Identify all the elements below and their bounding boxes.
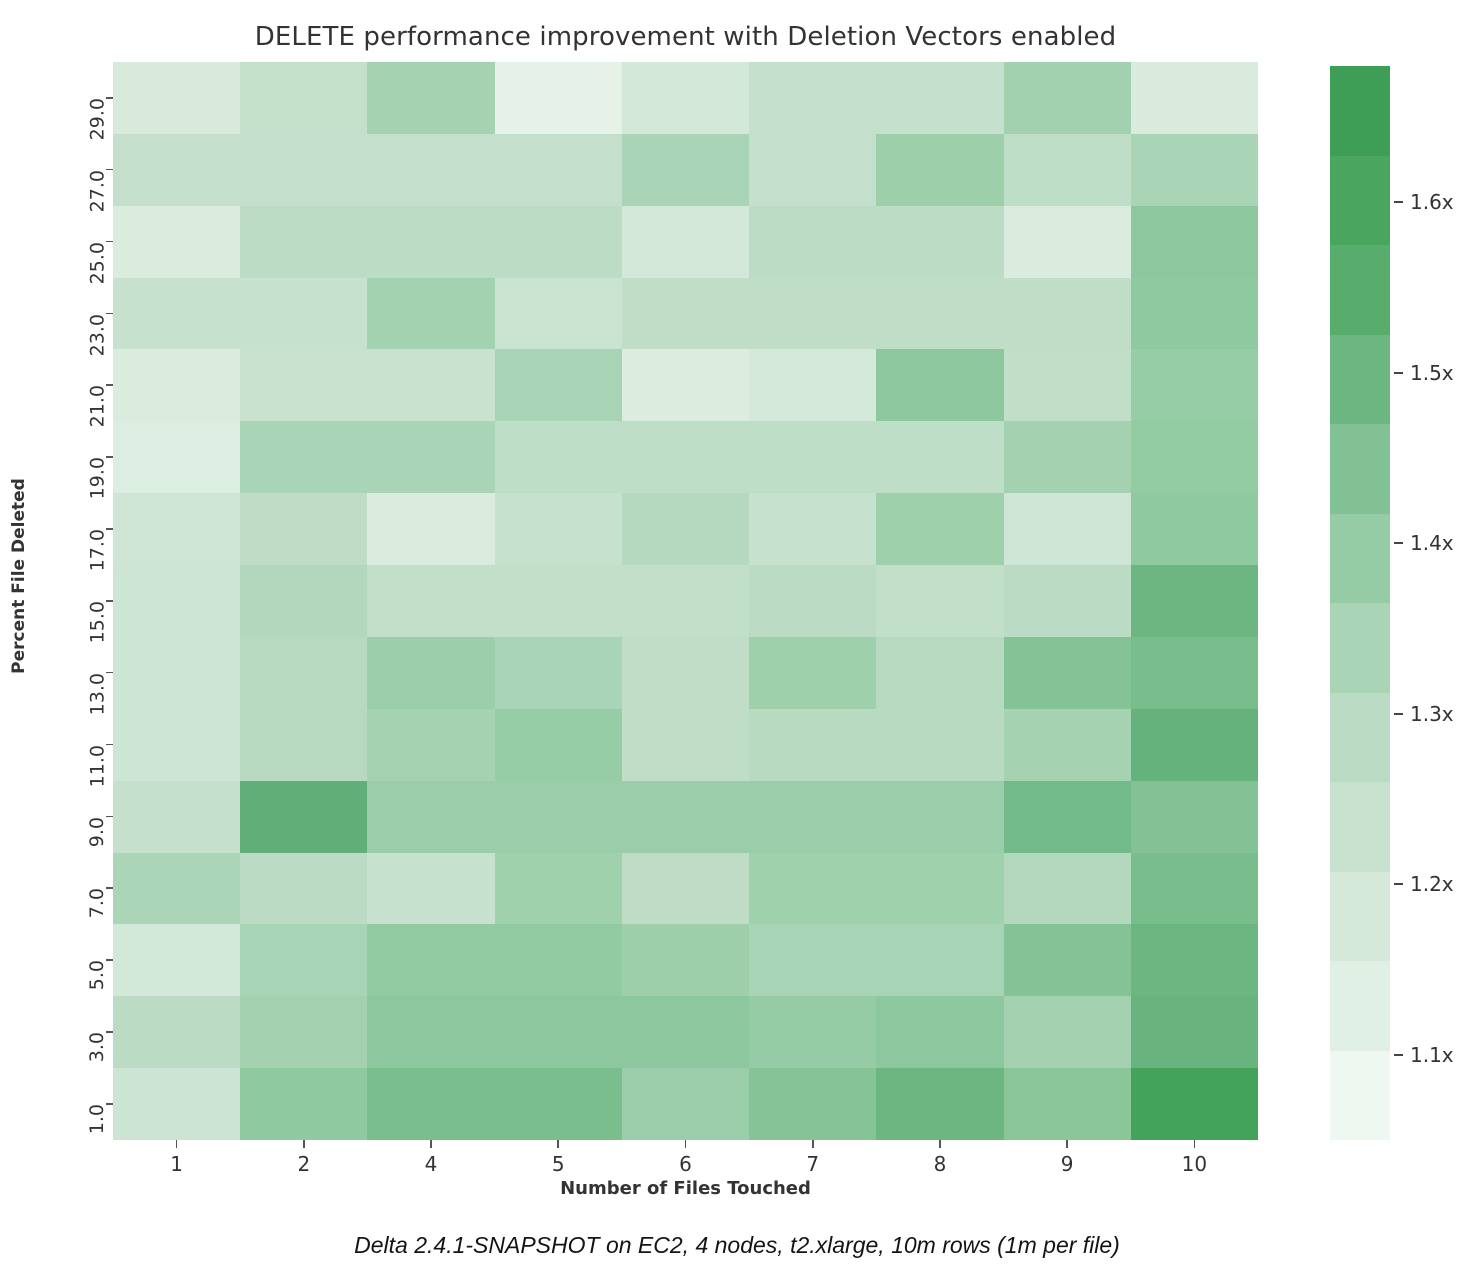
- heatmap-cell: [240, 996, 367, 1068]
- x-tick-mark: [1066, 1140, 1068, 1148]
- colorbar-band: [1330, 872, 1390, 962]
- y-tick-label: 11.0: [86, 745, 108, 787]
- heatmap-cell: [1004, 996, 1131, 1068]
- heatmap-cell: [367, 709, 494, 781]
- heatmap-cell: [749, 565, 876, 637]
- heatmap-cell: [113, 421, 240, 493]
- x-tick-mark: [176, 1140, 178, 1148]
- heatmap-cell: [1131, 62, 1258, 134]
- y-tick-label: 21.0: [86, 385, 108, 427]
- heatmap-cell: [367, 62, 494, 134]
- heatmap-cell: [367, 781, 494, 853]
- heatmap-cell: [113, 853, 240, 925]
- heatmap-cell: [113, 996, 240, 1068]
- colorbar-tick-label: 1.4x: [1410, 531, 1454, 555]
- heatmap-cell: [367, 565, 494, 637]
- heatmap-cell: [1131, 349, 1258, 421]
- heatmap-cell: [113, 278, 240, 350]
- heatmap-cell: [240, 853, 367, 925]
- heatmap-cell: [113, 349, 240, 421]
- heatmap-cell: [622, 62, 749, 134]
- heatmap-cell: [1004, 206, 1131, 278]
- heatmap-cell: [495, 781, 622, 853]
- heatmap-cell: [240, 924, 367, 996]
- heatmap-cell: [622, 349, 749, 421]
- x-tick-label: 8: [934, 1152, 947, 1176]
- heatmap-cell: [240, 709, 367, 781]
- heatmap-cell: [1131, 1068, 1258, 1140]
- colorbar-band: [1330, 693, 1390, 783]
- heatmap-cell: [749, 924, 876, 996]
- heatmap-cell: [876, 421, 1003, 493]
- heatmap-cell: [367, 996, 494, 1068]
- colorbar-tick-mark: [1394, 1054, 1403, 1056]
- heatmap-cell: [495, 637, 622, 709]
- x-tick-label: 10: [1182, 1152, 1207, 1176]
- heatmap-cell: [240, 421, 367, 493]
- heatmap-cell: [240, 134, 367, 206]
- colorbar-tick-mark: [1394, 883, 1403, 885]
- heatmap-cell: [495, 709, 622, 781]
- heatmap-cell: [113, 134, 240, 206]
- colorbar-gradient: [1330, 66, 1390, 1140]
- y-tick-label: 13.0: [86, 673, 108, 715]
- heatmap-cell: [1131, 206, 1258, 278]
- heatmap-cell: [876, 637, 1003, 709]
- heatmap-cell: [749, 493, 876, 565]
- x-tick-mark: [557, 1140, 559, 1148]
- heatmap-cell: [1004, 924, 1131, 996]
- colorbar-tick-label: 1.2x: [1410, 872, 1454, 896]
- heatmap-cell: [622, 1068, 749, 1140]
- x-tick-mark: [1194, 1140, 1196, 1148]
- heatmap-cell: [1131, 278, 1258, 350]
- heatmap-cell: [1004, 565, 1131, 637]
- heatmap-cell: [876, 1068, 1003, 1140]
- heatmap-cell: [495, 62, 622, 134]
- heatmap-cell: [367, 134, 494, 206]
- y-tick-label: 3.0: [86, 1032, 108, 1062]
- heatmap-cell: [367, 278, 494, 350]
- heatmap-cell: [749, 349, 876, 421]
- heatmap-cell: [876, 924, 1003, 996]
- heatmap-cell: [240, 278, 367, 350]
- heatmap-cell: [367, 853, 494, 925]
- colorbar-band: [1330, 782, 1390, 872]
- heatmap-cell: [1131, 924, 1258, 996]
- heatmap-cell: [876, 349, 1003, 421]
- heatmap-cell: [876, 206, 1003, 278]
- heatmap-cell: [622, 709, 749, 781]
- heatmap-cell: [876, 853, 1003, 925]
- heatmap-cell: [1131, 421, 1258, 493]
- heatmap-cell: [1004, 421, 1131, 493]
- heatmap-cell: [749, 421, 876, 493]
- heatmap-cell: [1131, 493, 1258, 565]
- heatmap-cell: [495, 421, 622, 493]
- colorbar-tick-label: 1.6x: [1410, 190, 1454, 214]
- heatmap-cell: [1004, 709, 1131, 781]
- x-tick-mark: [812, 1140, 814, 1148]
- heatmap-cell: [367, 421, 494, 493]
- x-tick-label: 9: [1061, 1152, 1074, 1176]
- heatmap-cell: [495, 565, 622, 637]
- y-tick-label: 23.0: [86, 314, 108, 356]
- colorbar[interactable]: 1.6x1.5x1.4x1.3x1.2x1.1x: [1330, 66, 1390, 1140]
- x-tick-label: 1: [170, 1152, 183, 1176]
- colorbar-band: [1330, 245, 1390, 335]
- heatmap-cell: [876, 996, 1003, 1068]
- heatmap-cell: [495, 853, 622, 925]
- heatmap-cell: [1004, 134, 1131, 206]
- heatmap-cell: [749, 134, 876, 206]
- heatmap-cell: [622, 781, 749, 853]
- y-tick-label: 1.0: [86, 1104, 108, 1134]
- y-tick-label: 29.0: [86, 98, 108, 140]
- heatmap-cell: [495, 134, 622, 206]
- heatmap-cell: [749, 996, 876, 1068]
- heatmap-cell: [749, 781, 876, 853]
- heatmap-cell: [495, 1068, 622, 1140]
- y-axis-title: Percent File Deleted: [9, 37, 29, 1115]
- heatmap-cell: [240, 637, 367, 709]
- y-tick-label: 5.0: [86, 960, 108, 990]
- x-tick-label: 7: [806, 1152, 819, 1176]
- heatmap-cell: [1131, 637, 1258, 709]
- colorbar-tick-label: 1.5x: [1410, 361, 1454, 385]
- heatmap-cell: [113, 565, 240, 637]
- colorbar-band: [1330, 335, 1390, 425]
- x-tick-mark: [430, 1140, 432, 1148]
- x-tick-label: 2: [297, 1152, 310, 1176]
- heatmap-cell: [876, 278, 1003, 350]
- heatmap-cell: [1004, 781, 1131, 853]
- x-axis-title: Number of Files Touched: [113, 1178, 1258, 1199]
- colorbar-band: [1330, 66, 1390, 156]
- y-tick-label: 17.0: [86, 529, 108, 571]
- colorbar-band: [1330, 514, 1390, 604]
- heatmap-cell: [1131, 781, 1258, 853]
- heatmap-cell: [1131, 853, 1258, 925]
- y-tick-label: 9.0: [86, 817, 108, 847]
- colorbar-tick-label: 1.1x: [1410, 1043, 1454, 1067]
- heatmap-cell: [113, 1068, 240, 1140]
- heatmap-cell: [113, 62, 240, 134]
- figure-caption: Delta 2.4.1-SNAPSHOT on EC2, 4 nodes, t2…: [0, 1232, 1474, 1259]
- colorbar-band: [1330, 424, 1390, 514]
- heatmap-cell: [240, 493, 367, 565]
- heatmap-cell: [622, 853, 749, 925]
- heatmap-cell: [876, 134, 1003, 206]
- colorbar-tick-mark: [1394, 713, 1403, 715]
- heatmap-cell: [749, 206, 876, 278]
- heatmap-cell: [876, 781, 1003, 853]
- heatmap-cell: [876, 565, 1003, 637]
- heatmap-cell: [1004, 349, 1131, 421]
- heatmap-cell: [495, 349, 622, 421]
- heatmap-cell: [367, 493, 494, 565]
- heatmap-cell: [113, 924, 240, 996]
- colorbar-tick-mark: [1394, 542, 1403, 544]
- colorbar-tick-label: 1.3x: [1410, 702, 1454, 726]
- chart-figure: DELETE performance improvement with Dele…: [0, 0, 1474, 1280]
- heatmap-plot-area[interactable]: [113, 62, 1258, 1140]
- y-tick-label: 27.0: [86, 170, 108, 212]
- heatmap-cell: [495, 278, 622, 350]
- heatmap-cell: [749, 62, 876, 134]
- colorbar-band: [1330, 961, 1390, 1051]
- heatmap-cell: [1131, 996, 1258, 1068]
- heatmap-cell: [622, 278, 749, 350]
- y-tick-label: 25.0: [86, 242, 108, 284]
- heatmap-cell: [622, 924, 749, 996]
- heatmap-cell: [622, 134, 749, 206]
- heatmap-cell: [240, 62, 367, 134]
- heatmap-cell: [622, 493, 749, 565]
- heatmap-cell: [622, 637, 749, 709]
- heatmap-cell: [749, 853, 876, 925]
- y-tick-label: 15.0: [86, 601, 108, 643]
- x-tick-mark: [939, 1140, 941, 1148]
- y-tick-label: 7.0: [86, 888, 108, 918]
- heatmap-cell: [113, 781, 240, 853]
- heatmap-cell: [495, 493, 622, 565]
- heatmap-cell: [622, 421, 749, 493]
- heatmap-cell: [876, 493, 1003, 565]
- colorbar-band: [1330, 1051, 1390, 1141]
- heatmap-cell: [495, 924, 622, 996]
- heatmap-cell: [113, 709, 240, 781]
- heatmap-cell: [749, 1068, 876, 1140]
- heatmap-cell: [240, 781, 367, 853]
- heatmap-cell: [240, 206, 367, 278]
- heatmap-cell: [367, 1068, 494, 1140]
- heatmap-cell: [1004, 62, 1131, 134]
- heatmap-cell: [113, 493, 240, 565]
- x-tick-mark: [685, 1140, 687, 1148]
- heatmap-cell: [113, 206, 240, 278]
- colorbar-tick-mark: [1394, 201, 1403, 203]
- heatmap-cell: [240, 1068, 367, 1140]
- heatmap-cell: [367, 924, 494, 996]
- heatmap-cell: [1004, 278, 1131, 350]
- heatmap-cell: [240, 349, 367, 421]
- heatmap-cell: [749, 637, 876, 709]
- heatmap-cell: [1131, 709, 1258, 781]
- heatmap-cell: [1004, 637, 1131, 709]
- chart-title: DELETE performance improvement with Dele…: [113, 22, 1258, 52]
- heatmap-cell: [1004, 493, 1131, 565]
- colorbar-band: [1330, 603, 1390, 693]
- heatmap-cell: [749, 709, 876, 781]
- heatmap-cell: [113, 637, 240, 709]
- x-tick-label: 4: [425, 1152, 438, 1176]
- heatmap-cell: [876, 709, 1003, 781]
- heatmap-cell: [495, 206, 622, 278]
- heatmap-cell: [622, 565, 749, 637]
- heatmap-cell: [367, 206, 494, 278]
- heatmap-cell: [876, 62, 1003, 134]
- heatmap-cell: [1131, 134, 1258, 206]
- colorbar-band: [1330, 156, 1390, 246]
- heatmap-cell: [495, 996, 622, 1068]
- heatmap-grid: [113, 62, 1258, 1140]
- heatmap-cell: [622, 206, 749, 278]
- heatmap-cell: [1131, 565, 1258, 637]
- heatmap-cell: [1004, 853, 1131, 925]
- colorbar-tick-mark: [1394, 372, 1403, 374]
- heatmap-cell: [367, 349, 494, 421]
- x-tick-mark: [303, 1140, 305, 1148]
- heatmap-cell: [1004, 1068, 1131, 1140]
- x-tick-label: 5: [552, 1152, 565, 1176]
- x-tick-label: 6: [679, 1152, 692, 1176]
- heatmap-cell: [240, 565, 367, 637]
- heatmap-cell: [367, 637, 494, 709]
- heatmap-cell: [622, 996, 749, 1068]
- y-tick-label: 19.0: [86, 457, 108, 499]
- heatmap-cell: [749, 278, 876, 350]
